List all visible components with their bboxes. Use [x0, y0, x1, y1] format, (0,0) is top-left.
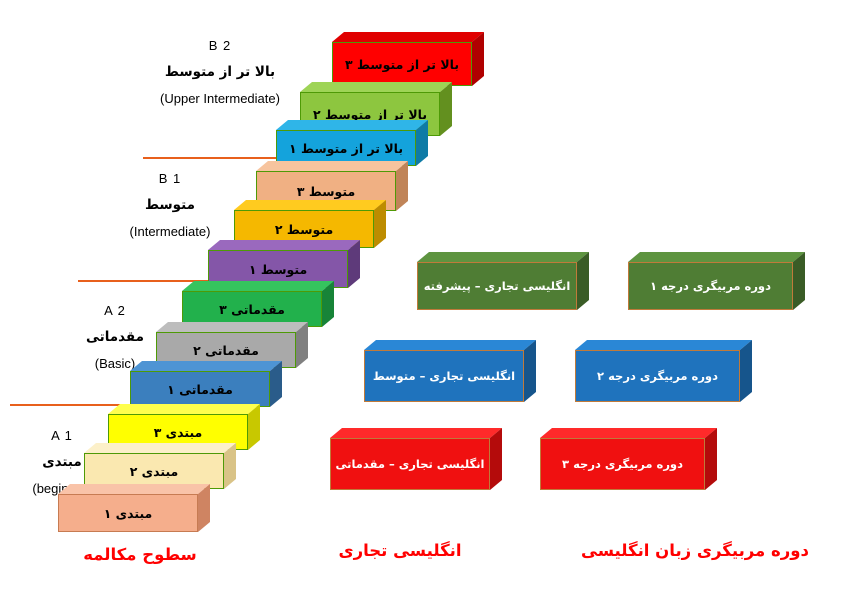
block-side-face [577, 252, 589, 310]
block-label: دوره مربیگری درجه ۳ [540, 438, 705, 490]
block-top-face [417, 252, 589, 262]
conversation-level-block[interactable]: مقدماتی ۱ [130, 361, 282, 407]
block-top-face [575, 340, 752, 350]
conversation-level-block[interactable]: بالا تر از متوسط ۱ [276, 120, 428, 166]
diagram-canvas: B 2بالا تر از متوسط(Upper Intermediate)B… [0, 0, 842, 595]
teacher-training-block[interactable]: دوره مربیگری درجه ۲ [575, 340, 752, 402]
block-label: انگلیسی تجاری – مقدماتی [330, 438, 490, 490]
block-label: بالا تر از متوسط ۳ [332, 42, 472, 86]
block-top-face [276, 120, 428, 130]
block-top-face [330, 428, 502, 438]
block-label: مقدماتی ۱ [130, 371, 270, 407]
cefr-level-group-b2: B 2بالا تر از متوسط(Upper Intermediate) [120, 38, 320, 106]
business-english-block[interactable]: انگلیسی تجاری – مقدماتی [330, 428, 502, 490]
block-top-face [182, 281, 334, 291]
column-heading: انگلیسی تجاری [310, 541, 490, 560]
column-heading: سطوح مکالمه [50, 545, 230, 564]
cefr-code-label: B 2 [120, 38, 320, 53]
teacher-training-block[interactable]: دوره مربیگری درجه ۱ [628, 252, 805, 310]
block-top-face [364, 340, 536, 350]
column-heading: دوره مربیگری زبان انگلیسی [570, 541, 820, 560]
conversation-level-block[interactable]: مقدماتی ۳ [182, 281, 334, 327]
cefr-english-label: (Upper Intermediate) [120, 91, 320, 106]
block-top-face [540, 428, 717, 438]
cefr-persian-label: بالا تر از متوسط [120, 64, 320, 80]
conversation-level-block[interactable]: بالا تر از متوسط ۳ [332, 32, 484, 86]
block-label: انگلیسی تجاری – متوسط [364, 350, 524, 402]
block-side-face [524, 340, 536, 402]
conversation-level-block[interactable]: مبتدی ۲ [84, 443, 236, 489]
block-label: مبتدی ۱ [58, 494, 198, 532]
business-english-block[interactable]: انگلیسی تجاری – پیشرفته [417, 252, 589, 310]
block-top-face [108, 404, 260, 414]
block-side-face [705, 428, 717, 490]
block-top-face [234, 200, 386, 210]
block-label: دوره مربیگری درجه ۱ [628, 262, 793, 310]
block-label: انگلیسی تجاری – پیشرفته [417, 262, 577, 310]
block-top-face [84, 443, 236, 453]
business-english-block[interactable]: انگلیسی تجاری – متوسط [364, 340, 536, 402]
block-top-face [256, 161, 408, 171]
block-top-face [628, 252, 805, 262]
block-top-face [332, 32, 484, 42]
level-separator-line [143, 157, 278, 159]
block-top-face [208, 240, 360, 250]
block-side-face [740, 340, 752, 402]
block-top-face [58, 484, 210, 494]
conversation-level-block[interactable]: مبتدی ۱ [58, 484, 210, 532]
teacher-training-block[interactable]: دوره مربیگری درجه ۳ [540, 428, 717, 490]
block-top-face [300, 82, 452, 92]
block-top-face [156, 322, 308, 332]
cefr-code-label: B 1 [70, 171, 270, 186]
block-top-face [130, 361, 282, 371]
block-side-face [490, 428, 502, 490]
block-label: دوره مربیگری درجه ۲ [575, 350, 740, 402]
block-side-face [793, 252, 805, 310]
